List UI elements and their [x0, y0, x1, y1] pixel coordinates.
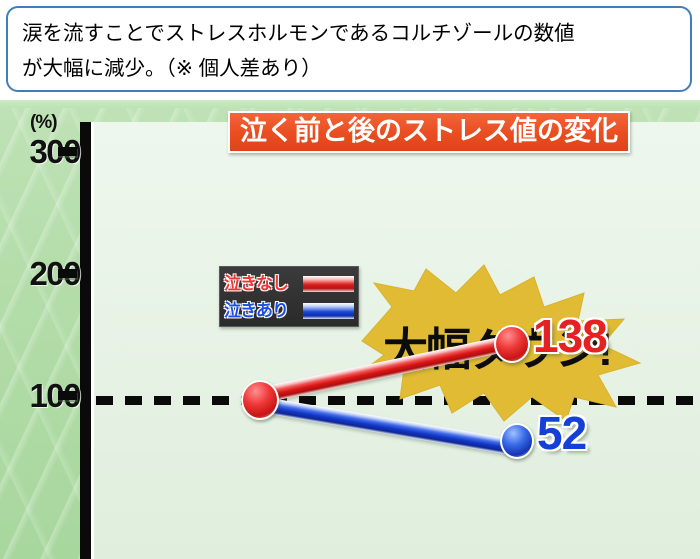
value-label-no-crying: 138	[533, 312, 607, 360]
data-point-marker-crying-end[interactable]	[500, 423, 534, 459]
legend-label-crying: 泣きあり	[224, 302, 301, 320]
y-tick-mark-100	[58, 391, 77, 400]
data-point-marker-start[interactable]	[241, 380, 279, 420]
legend-item-no-crying: 泣きなし	[224, 270, 354, 297]
caption-line-1: 涙を流すことでストレスホルモンであるコルチゾールの数値	[22, 16, 676, 51]
legend: 泣きなし 泣きあり	[219, 266, 359, 327]
legend-swatch-crying	[303, 303, 354, 319]
y-axis-unit-label: (%)	[30, 112, 57, 134]
y-tick-mark-300	[58, 147, 77, 156]
legend-label-no-crying: 泣きなし	[224, 275, 301, 293]
chart-title-banner: 泣く前と後のストレス値の変化	[228, 111, 630, 153]
legend-item-crying: 泣きあり	[224, 297, 354, 324]
chart-panel: (%) 300 200 100 泣く前と後のストレス値の変化 泣きなし 泣きあり	[0, 100, 700, 559]
y-tick-mark-200	[58, 269, 77, 278]
value-label-crying: 52	[537, 409, 586, 457]
infographic-root: 涙を流すことでストレスホルモンであるコルチゾールの数値 が大幅に減少。（※ 個人…	[0, 0, 700, 559]
legend-swatch-no-crying	[303, 276, 354, 292]
caption-line-2: が大幅に減少。（※ 個人差あり）	[22, 51, 676, 86]
data-point-marker-no-crying-end[interactable]	[494, 325, 530, 363]
panel-top-fade	[0, 100, 700, 108]
y-axis-highlight	[91, 122, 94, 559]
caption-box: 涙を流すことでストレスホルモンであるコルチゾールの数値 が大幅に減少。（※ 個人…	[6, 6, 692, 92]
